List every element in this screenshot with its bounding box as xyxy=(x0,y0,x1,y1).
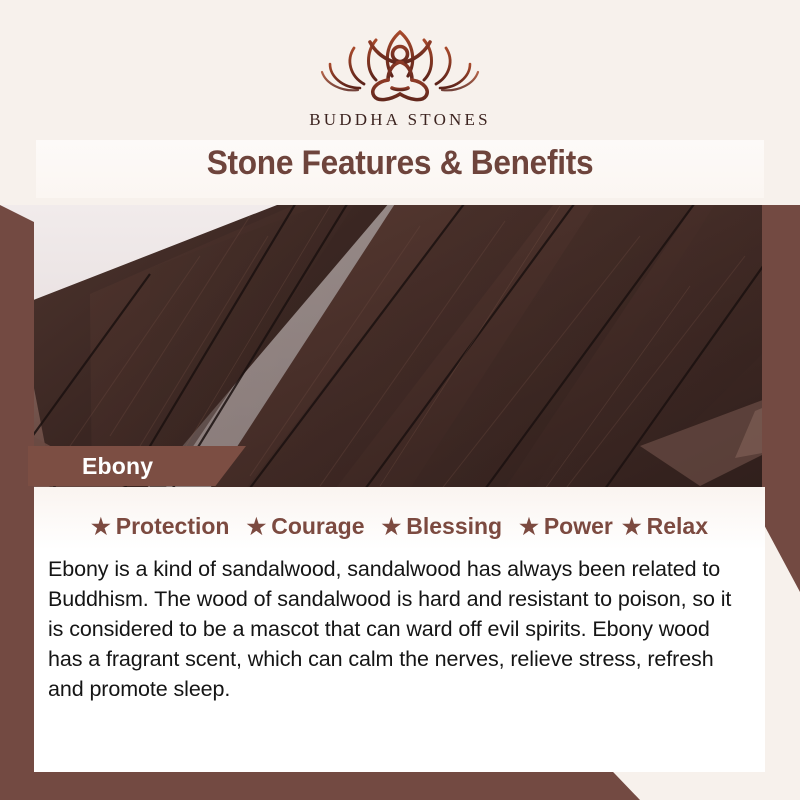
lotus-meditation-icon xyxy=(316,18,484,106)
header: BUDDHA STONES Stone Features & Benefits xyxy=(0,0,800,205)
star-icon: ★ xyxy=(91,516,111,538)
description-paragraph: Ebony is a kind of sandalwood, sandalwoo… xyxy=(34,540,765,704)
feature-item: ★ Blessing xyxy=(382,513,503,540)
feature-item: ★ Relax xyxy=(622,513,708,540)
feature-item: ★ Power xyxy=(519,513,613,540)
page-title: Stone Features & Benefits xyxy=(28,144,772,183)
feature-label: Courage xyxy=(271,513,364,540)
feature-item: ★ Courage xyxy=(246,513,364,540)
stone-name-ribbon: Ebony xyxy=(28,446,246,486)
feature-label: Protection xyxy=(116,513,230,540)
star-icon: ★ xyxy=(519,516,539,538)
star-icon: ★ xyxy=(246,516,266,538)
infographic-page: BUDDHA STONES Stone Features & Benefits … xyxy=(0,0,800,800)
brand-name: BUDDHA STONES xyxy=(309,110,491,130)
brand-logo: BUDDHA STONES xyxy=(0,18,800,130)
feature-label: Power xyxy=(544,513,613,540)
star-icon: ★ xyxy=(382,516,402,538)
frame-border-left xyxy=(0,205,34,773)
feature-label: Relax xyxy=(647,513,708,540)
content-card: ★ Protection ★ Courage ★ Blessing ★ Powe… xyxy=(34,487,765,772)
star-icon: ★ xyxy=(622,516,642,538)
feature-list: ★ Protection ★ Courage ★ Blessing ★ Powe… xyxy=(34,487,765,540)
feature-item: ★ Protection xyxy=(91,513,229,540)
feature-label: Blessing xyxy=(406,513,502,540)
stone-name-label: Ebony xyxy=(28,453,153,480)
